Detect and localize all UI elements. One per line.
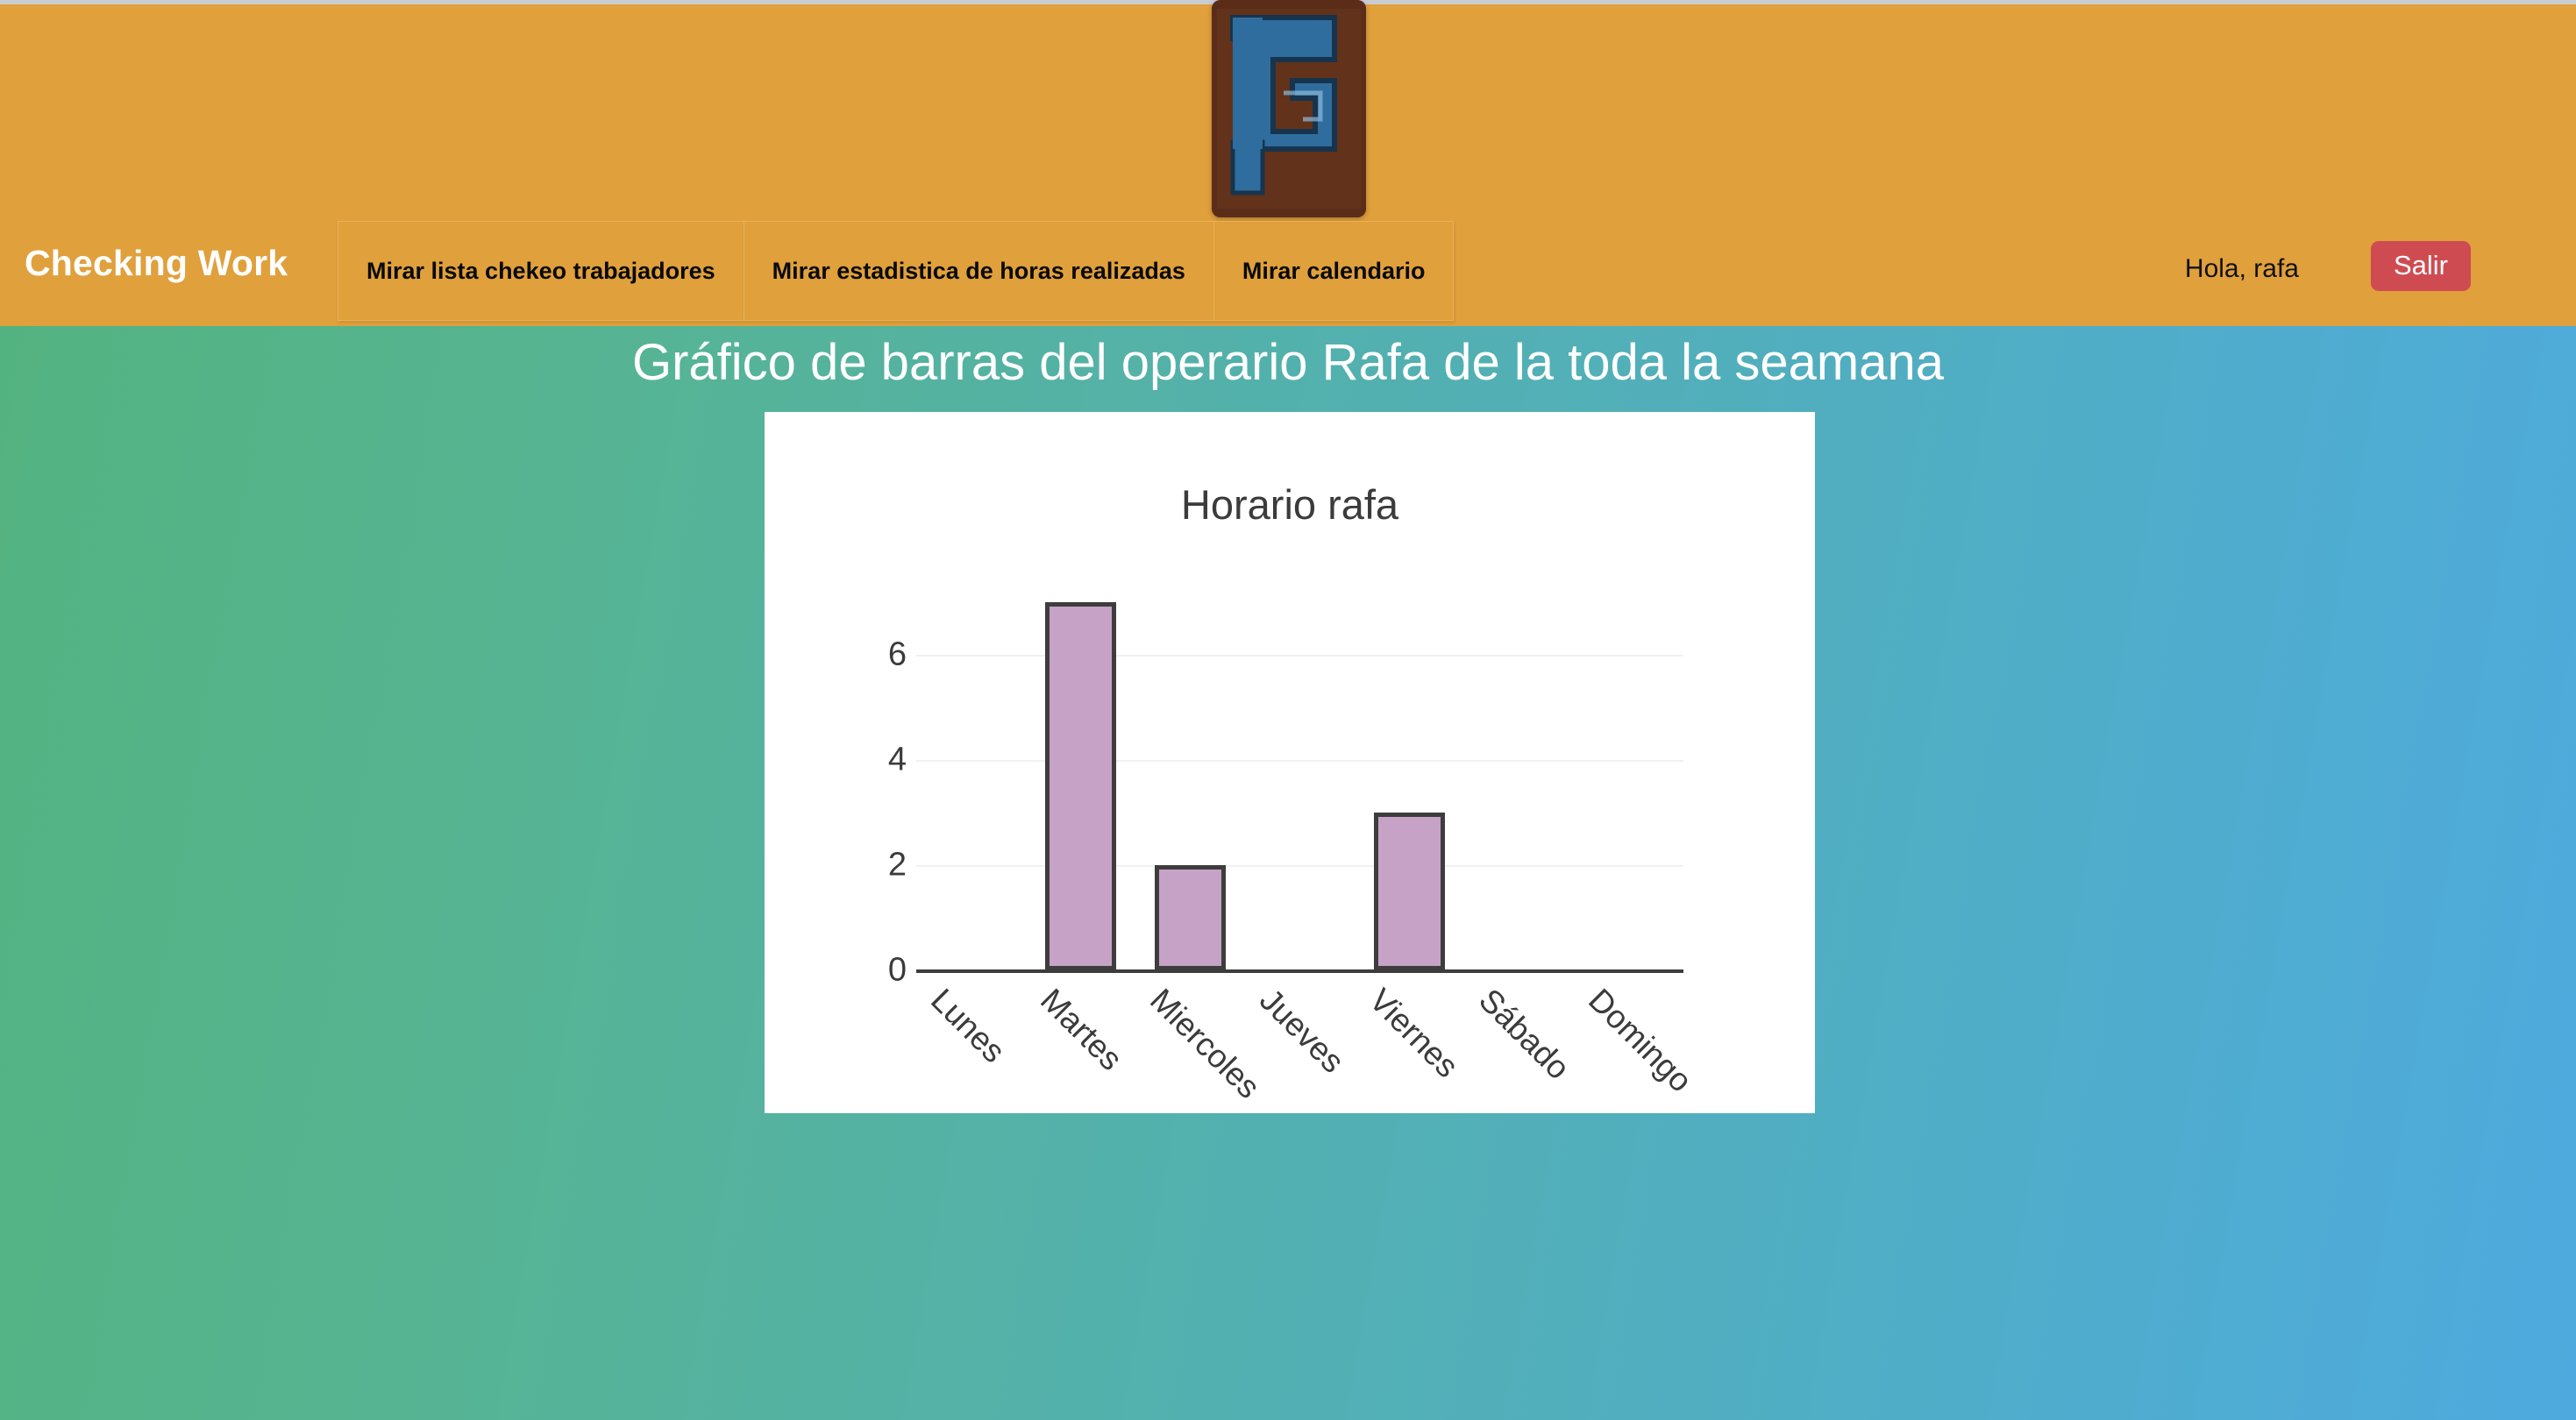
x-tick-label: Jueves	[1252, 982, 1351, 1081]
navbar: Checking Work Mirar lista chekeo trabaja…	[0, 4, 2576, 326]
user-greeting: Hola, rafa	[2185, 254, 2299, 284]
bar-miercoles	[1155, 865, 1226, 970]
bar-martes	[1045, 602, 1116, 970]
x-tick-label: Lunes	[923, 982, 1012, 1070]
x-tick-label: Domingo	[1581, 982, 1698, 1099]
y-tick-label: 2	[868, 847, 907, 884]
bar-slot	[1355, 412, 1464, 970]
x-tick-label: Sábado	[1471, 982, 1576, 1087]
bar-chart-plot: 0246 LunesMartesMiercolesJuevesViernesSá…	[765, 412, 1815, 1113]
bar-viernes	[1374, 813, 1445, 970]
x-tick-label: Miercoles	[1142, 982, 1267, 1106]
x-tick-label: Viernes	[1362, 982, 1465, 1085]
bar-slot	[916, 412, 1026, 970]
x-axis-tick-labels: LunesMartesMiercolesJuevesViernesSábadoD…	[916, 982, 1683, 1113]
y-tick-label: 0	[868, 952, 907, 990]
nav-link-lista-chekeo[interactable]: Mirar lista chekeo trabajadores	[338, 221, 744, 321]
chart-bars	[916, 412, 1683, 970]
logout-button[interactable]: Salir	[2371, 241, 2471, 291]
bar-slot	[1026, 412, 1135, 970]
chart-card: Horario rafa 0246 LunesMartesMiercolesJu…	[765, 412, 1815, 1113]
y-tick-label: 6	[868, 636, 907, 674]
bar-slot	[1574, 412, 1683, 970]
brand-title: Checking Work	[25, 243, 288, 284]
nav-link-calendario[interactable]: Mirar calendario	[1213, 221, 1455, 321]
bar-slot	[1245, 412, 1355, 970]
nav-link-estadistica-horas[interactable]: Mirar estadistica de horas realizadas	[744, 221, 1213, 321]
spiral-g-logo-icon	[1212, 0, 1366, 217]
page-title: Gráfico de barras del operario Rafa de l…	[0, 333, 2576, 392]
x-tick-label: Martes	[1033, 982, 1129, 1078]
nav-links: Mirar lista chekeo trabajadores Mirar es…	[338, 221, 1454, 321]
y-tick-label: 4	[868, 742, 907, 779]
bar-slot	[1464, 412, 1574, 970]
bar-slot	[1135, 412, 1245, 970]
